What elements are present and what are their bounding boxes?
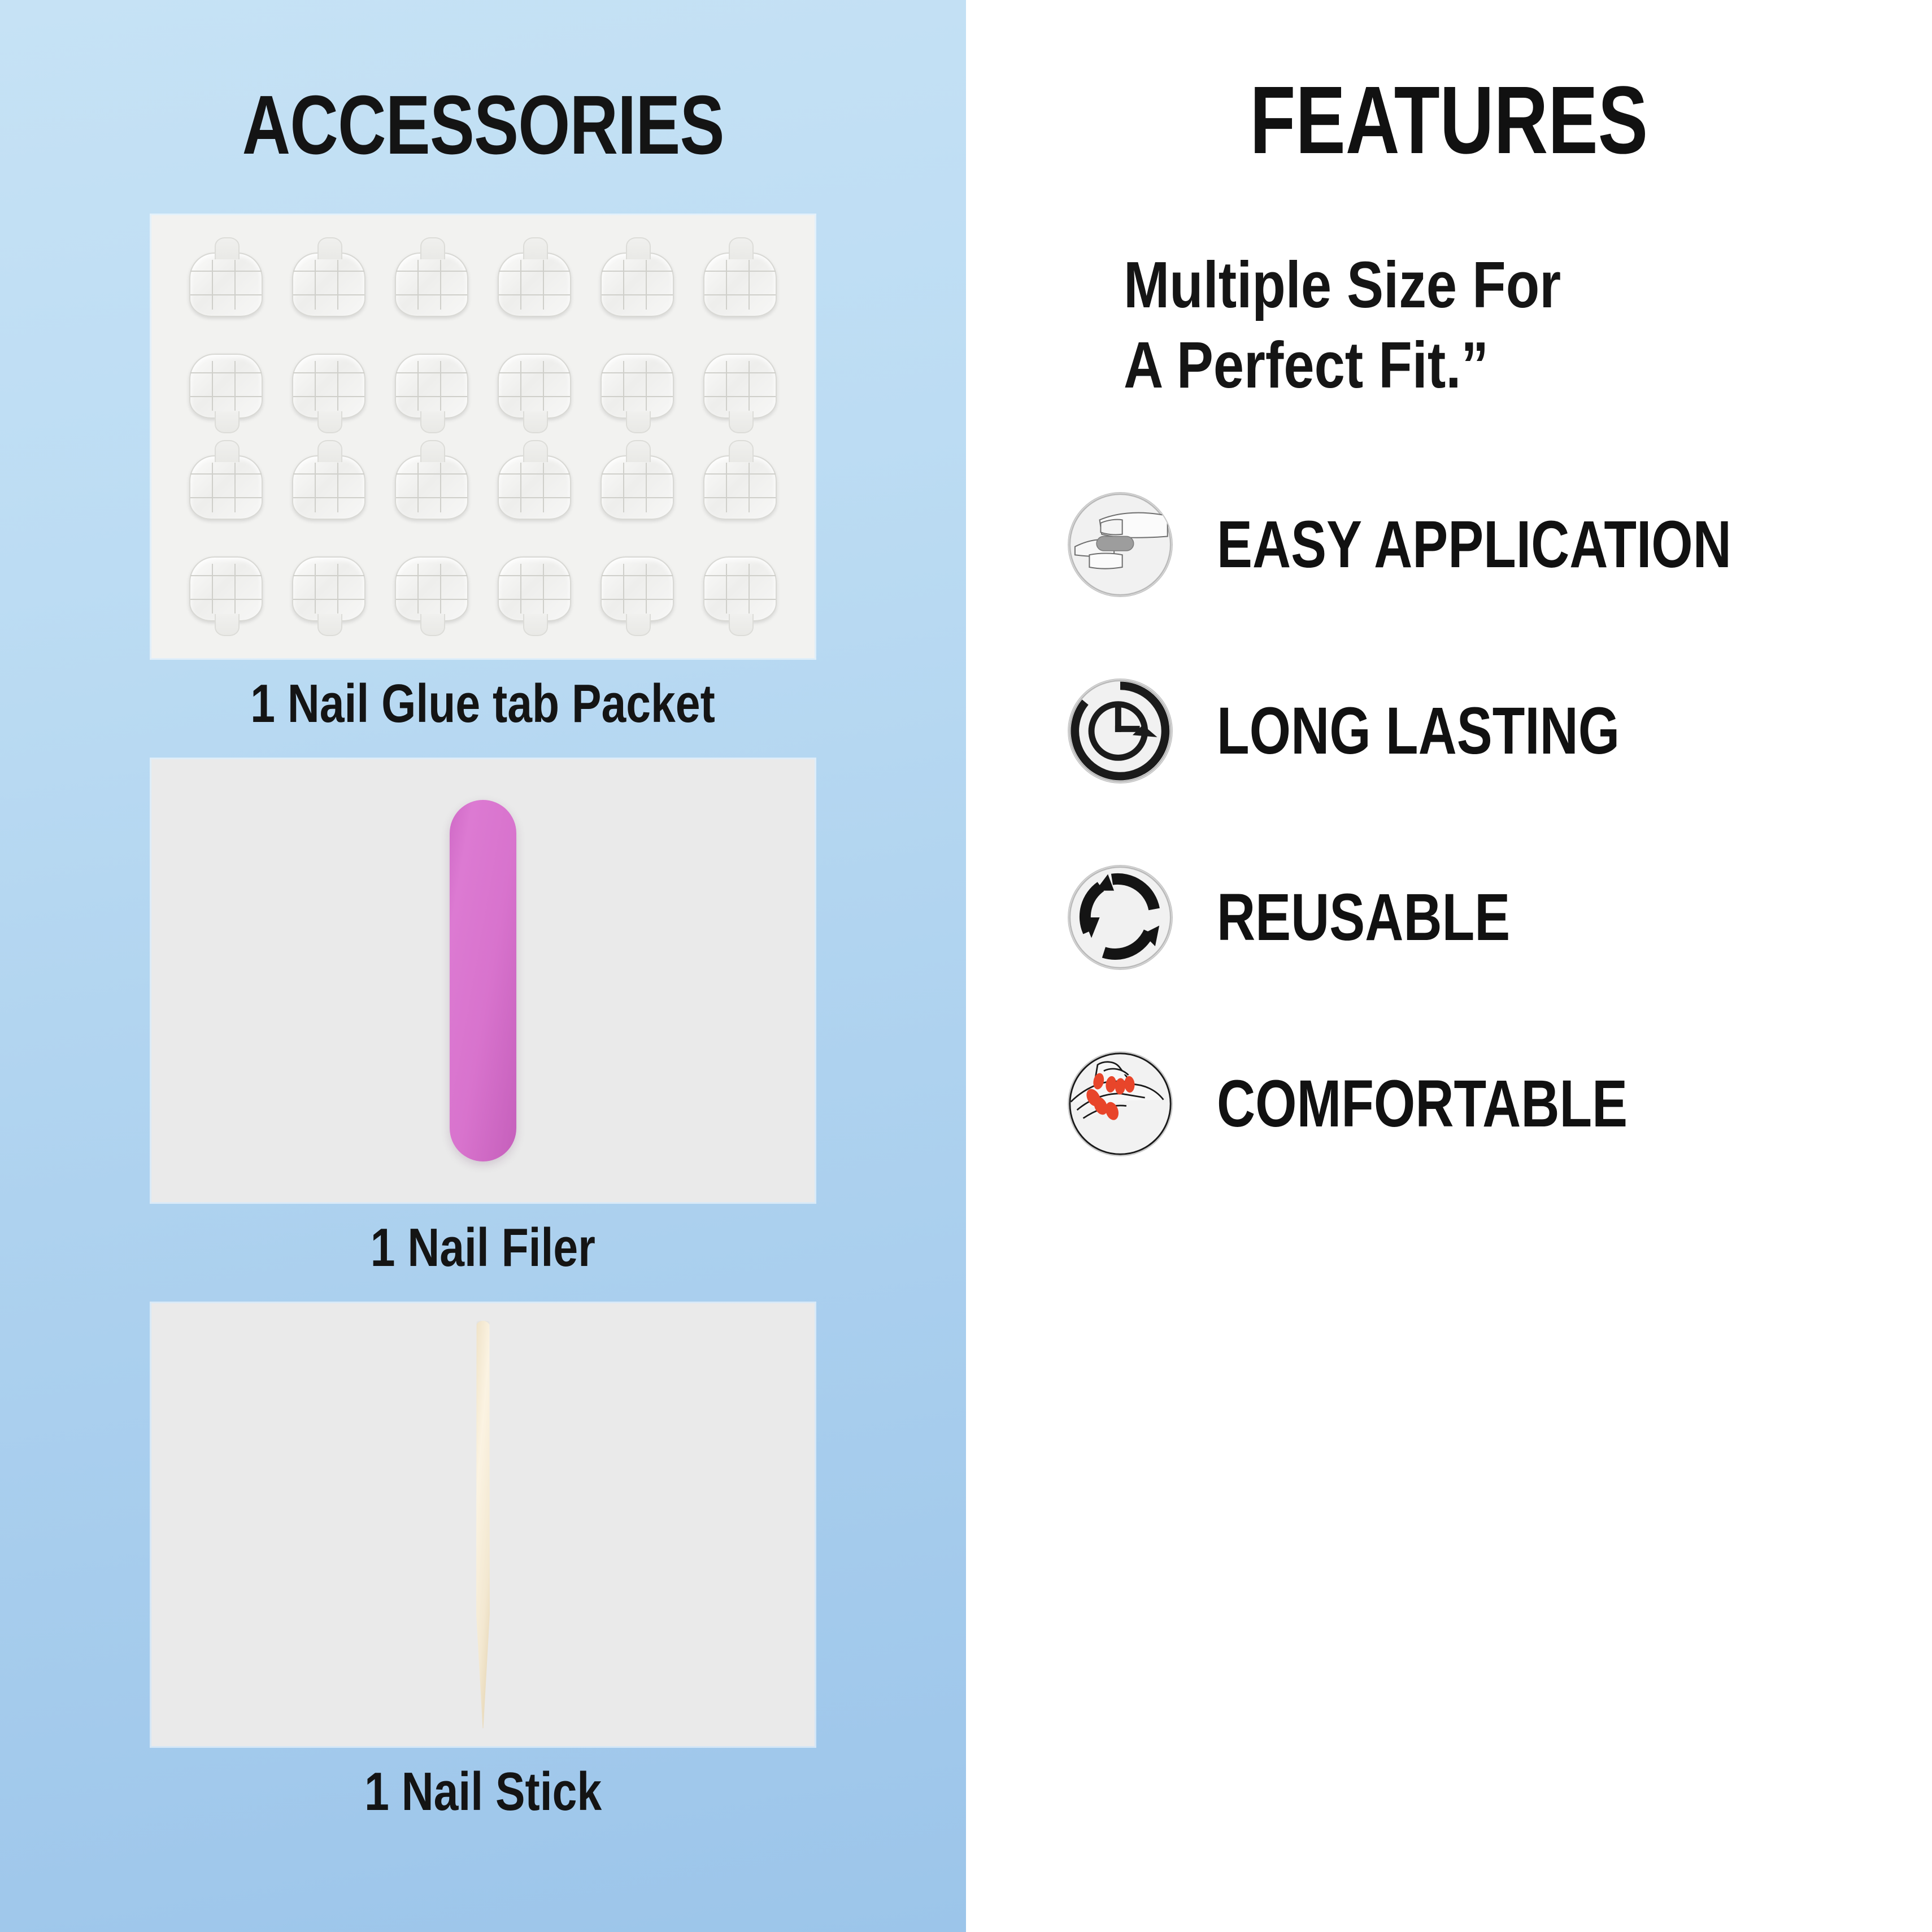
- glue-tab: [279, 438, 378, 537]
- glue-tab: [588, 236, 687, 334]
- glue-tab: [588, 438, 687, 537]
- accessory-caption: 1 Nail Stick: [364, 1764, 602, 1821]
- feature-row-long-lasting: LONG LASTING: [1068, 666, 1932, 796]
- glue-tab: [588, 337, 687, 436]
- glue-tab: [690, 236, 790, 334]
- accessories-list: 1 Nail Glue tab Packet 1 Nail Filer 1 Na…: [150, 214, 816, 1820]
- glue-tab: [485, 236, 584, 334]
- feature-row-comfortable: COMFORTABLE: [1068, 1039, 1932, 1169]
- tagline-line-1: Multiple Size For: [1124, 245, 1703, 325]
- feature-row-reusable: REUSABLE: [1068, 852, 1932, 982]
- accessory-item-glue-tabs: 1 Nail Glue tab Packet: [150, 214, 816, 733]
- glue-tab: [176, 236, 276, 334]
- tagline-line-2: A Perfect Fit.”: [1124, 325, 1703, 406]
- glue-tab: [485, 438, 584, 537]
- glue-tab: [382, 337, 481, 436]
- nail-filer-image: [150, 758, 816, 1204]
- accessory-item-nail-filer: 1 Nail Filer: [150, 758, 816, 1277]
- glue-tab: [382, 236, 481, 334]
- nail-glue-tab-sheet-image: [150, 214, 816, 660]
- glue-tab: [690, 438, 790, 537]
- accessories-title: ACCESSORIES: [242, 84, 724, 167]
- glue-tab-grid: [176, 236, 790, 638]
- pink-nail-file-shape: [450, 800, 516, 1161]
- glue-tab: [485, 337, 584, 436]
- feature-label: REUSABLE: [1217, 879, 1510, 956]
- feature-label: LONG LASTING: [1217, 693, 1620, 769]
- accessory-item-nail-stick: 1 Nail Stick: [150, 1302, 816, 1821]
- accessory-caption: 1 Nail Glue tab Packet: [251, 676, 716, 733]
- glue-tab: [588, 540, 687, 638]
- features-title: FEATURES: [1250, 72, 1648, 168]
- glue-tab: [382, 438, 481, 537]
- feature-label: COMFORTABLE: [1217, 1065, 1628, 1142]
- glue-tab: [690, 337, 790, 436]
- feature-label: EASY APPLICATION: [1217, 506, 1731, 583]
- nail-stick-image: [150, 1302, 816, 1748]
- accessories-panel: ACCESSORIES: [0, 0, 966, 1932]
- features-tagline: Multiple Size For A Perfect Fit.”: [1076, 245, 1703, 405]
- glue-tab: [690, 540, 790, 638]
- glue-tab: [279, 236, 378, 334]
- glue-tab: [176, 337, 276, 436]
- glue-tab: [176, 540, 276, 638]
- glue-tab: [382, 540, 481, 638]
- accessory-caption: 1 Nail Filer: [371, 1220, 595, 1277]
- glue-tab: [485, 540, 584, 638]
- finger-applying-nail-tip-icon: [1068, 492, 1173, 597]
- clock-rotate-icon: [1068, 678, 1173, 784]
- recycle-arrows-icon: [1068, 865, 1173, 970]
- features-list: EASY APPLICATION LONG LASTING: [966, 480, 1932, 1225]
- glue-tab: [279, 540, 378, 638]
- glue-tab: [279, 337, 378, 436]
- infographic-page: ACCESSORIES: [0, 0, 1932, 1932]
- glue-tab: [176, 438, 276, 537]
- features-panel: FEATURES Multiple Size For A Perfect Fit…: [966, 0, 1932, 1932]
- feature-row-easy-application: EASY APPLICATION: [1068, 480, 1932, 610]
- manicured-hands-icon: [1068, 1051, 1173, 1156]
